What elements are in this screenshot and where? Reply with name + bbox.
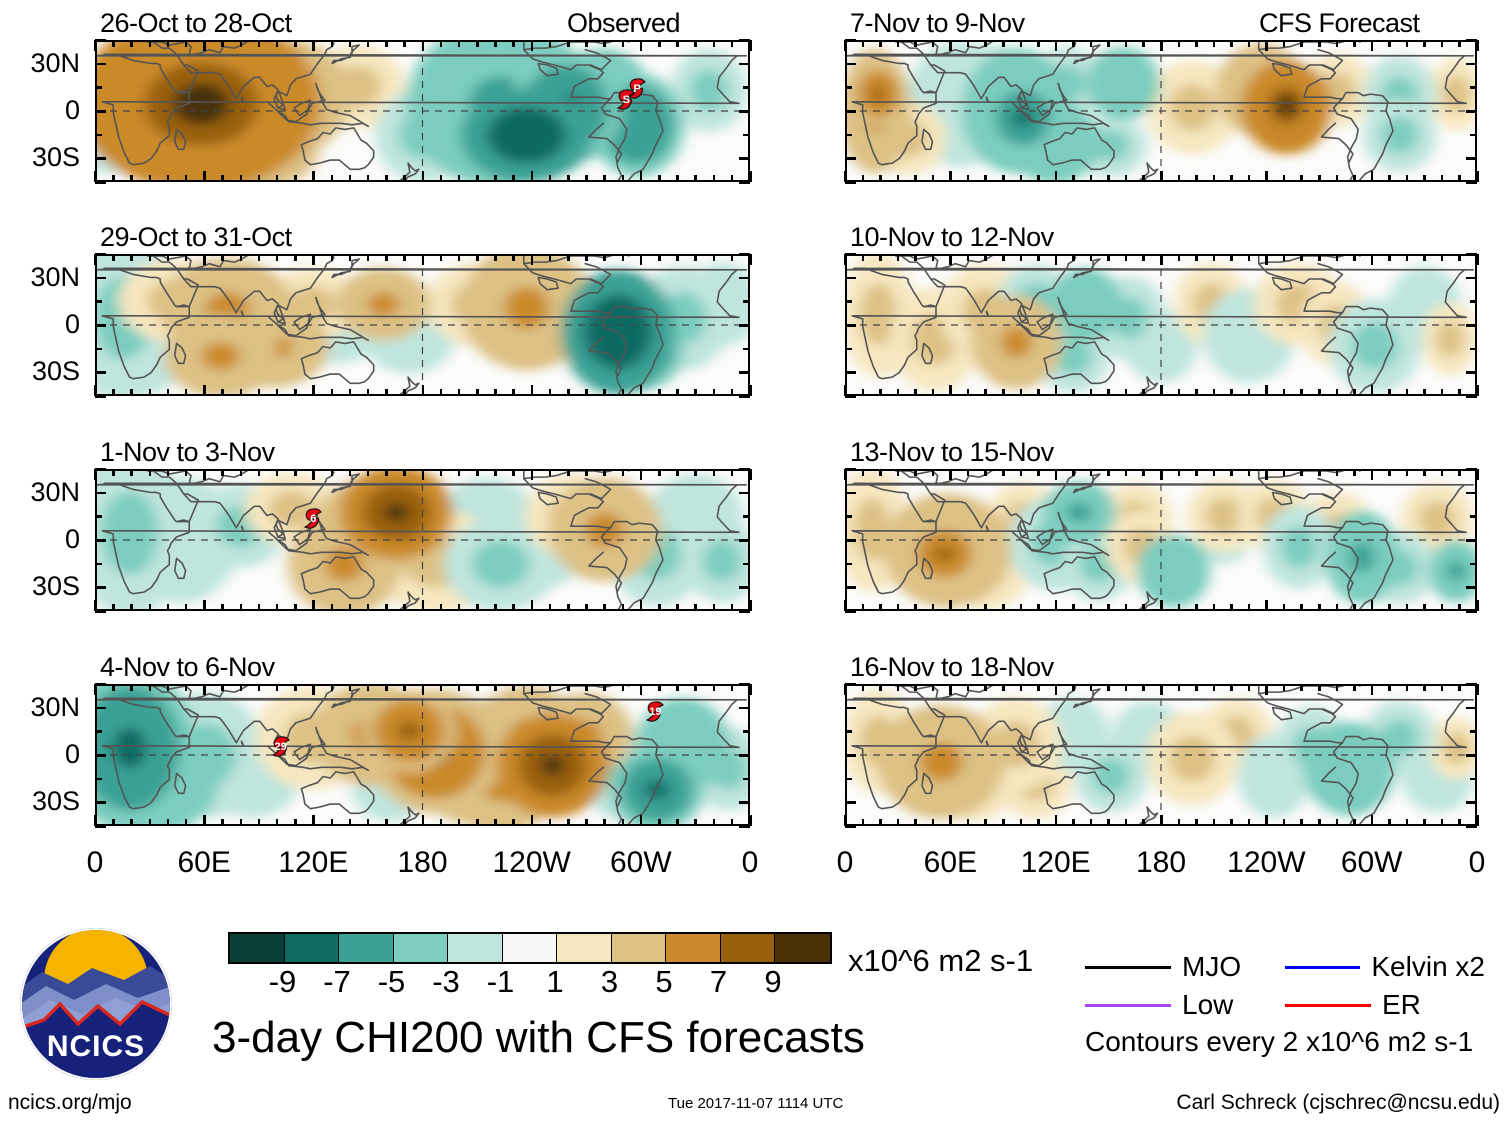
x-axis-tick <box>1090 40 1093 47</box>
x-axis-tick <box>862 604 865 611</box>
x-axis-tick <box>949 469 952 480</box>
x-axis-tick <box>512 684 515 691</box>
x-axis-tick <box>897 604 900 611</box>
x-axis-tick <box>1090 469 1093 476</box>
x-axis-tick <box>258 254 261 261</box>
x-axis-tick <box>203 40 206 51</box>
y-axis-tick <box>845 730 852 733</box>
colorbar-swatches <box>228 932 832 964</box>
x-axis-tick <box>879 604 882 611</box>
x-axis-tick <box>731 684 734 691</box>
x-axis-tick <box>1441 175 1444 182</box>
x-axis-tick <box>258 40 261 47</box>
y-axis-tick <box>1466 110 1477 113</box>
y-axis-tick <box>739 586 750 589</box>
panel-title-obs-1: 26-Oct to 28-Oct <box>100 10 292 37</box>
x-axis-tick <box>1371 600 1374 611</box>
x-axis-tick <box>1283 684 1286 691</box>
y-axis-tick <box>1466 277 1477 280</box>
x-axis-tick <box>967 254 970 261</box>
x-axis-tick <box>276 254 279 261</box>
x-axis-tick <box>914 175 917 182</box>
x-axis-tick <box>603 469 606 476</box>
legend-item-er: ER <box>1285 991 1485 1019</box>
y-axis-tick <box>1466 253 1477 256</box>
x-axis-tick <box>1142 469 1145 476</box>
x-axis-tick <box>349 469 352 476</box>
x-axis-tick <box>694 604 697 611</box>
x-axis-tick <box>476 604 479 611</box>
panel-title-fcs-3: 13-Nov to 15-Nov <box>850 439 1054 466</box>
x-axis-tick <box>713 175 716 182</box>
x-axis-tick <box>312 171 315 182</box>
x-axis-tick <box>585 604 588 611</box>
y-axis-tick <box>1470 563 1477 566</box>
x-axis-tick <box>349 604 352 611</box>
x-axis-tick <box>185 175 188 182</box>
x-axis-tick <box>694 175 697 182</box>
x-axis-tick <box>331 469 334 476</box>
x-axis-tick <box>1265 254 1268 265</box>
y-axis-tick <box>743 86 750 89</box>
x-axis-tick <box>1265 815 1268 826</box>
x-axis-tick <box>1353 40 1356 47</box>
x-axis-tick <box>1125 254 1128 261</box>
x-axis-tick <box>1406 389 1409 396</box>
x-axis-tick <box>367 389 370 396</box>
x-axis-tick <box>1265 171 1268 182</box>
x-axis-tick <box>1388 40 1391 47</box>
x-axis-tick <box>713 389 716 396</box>
x-axis-tick <box>967 819 970 826</box>
x-axis-tick <box>1353 684 1356 691</box>
x-axis-tick <box>494 175 497 182</box>
x-axis-tick <box>385 175 388 182</box>
y-axis-tick <box>95 825 106 828</box>
y-axis-tick-label: 30N <box>0 50 80 77</box>
x-axis-tick <box>312 815 315 826</box>
x-axis-tick <box>1423 684 1426 691</box>
y-axis-tick <box>845 683 856 686</box>
x-axis-tick <box>879 389 882 396</box>
x-axis-tick <box>440 40 443 47</box>
x-axis-tick <box>676 819 679 826</box>
x-axis-tick <box>1423 819 1426 826</box>
x-axis-tick <box>932 684 935 691</box>
x-axis-tick <box>694 389 697 396</box>
colorbar-cell-8 <box>666 934 721 962</box>
x-axis-tick <box>512 469 515 476</box>
y-axis-tick <box>845 110 856 113</box>
y-axis-tick <box>1466 371 1477 374</box>
x-axis-tick <box>1458 40 1461 47</box>
y-axis-tick <box>739 63 750 66</box>
x-axis-tick <box>1248 175 1251 182</box>
map-field-fcs-2 <box>847 256 1475 394</box>
x-axis-tick <box>149 254 152 261</box>
x-axis-tick <box>1318 469 1321 476</box>
x-axis-tick <box>1423 604 1426 611</box>
x-axis-tick <box>312 385 315 396</box>
x-axis-tick <box>276 604 279 611</box>
x-axis-tick-label: 0 <box>87 848 104 878</box>
x-axis-tick <box>1213 819 1216 826</box>
x-axis-tick-label: 120E <box>278 848 348 878</box>
y-axis-tick <box>95 253 106 256</box>
y-axis-tick <box>845 825 856 828</box>
x-axis-tick <box>512 175 515 182</box>
x-axis-tick <box>258 604 261 611</box>
x-axis-tick <box>367 684 370 691</box>
y-axis-tick <box>95 395 106 398</box>
y-axis-tick <box>1466 468 1477 471</box>
y-axis-tick-label: 30S <box>0 573 80 600</box>
colorbar-cell-2 <box>339 934 394 962</box>
x-axis-tick <box>549 684 552 691</box>
x-axis-tick <box>603 175 606 182</box>
map-field-fcs-4 <box>847 686 1475 824</box>
x-axis-tick <box>1423 469 1426 476</box>
x-axis-tick <box>130 254 133 261</box>
x-axis-tick-label: 0 <box>742 848 759 878</box>
x-axis-tick <box>1371 171 1374 182</box>
legend-row-1: MJO Kelvin x2 <box>1085 948 1505 986</box>
x-axis-tick <box>422 254 425 265</box>
x-axis-tick <box>276 819 279 826</box>
legend-item-mjo: MJO <box>1085 953 1285 981</box>
y-axis-tick <box>95 515 102 518</box>
x-axis-tick <box>294 604 297 611</box>
x-axis-tick <box>422 684 425 695</box>
x-axis-tick <box>1423 40 1426 47</box>
x-axis-tick <box>1441 389 1444 396</box>
x-axis-tick <box>1318 40 1321 47</box>
x-axis-tick <box>984 40 987 47</box>
x-axis-tick <box>932 175 935 182</box>
x-axis-tick <box>862 819 865 826</box>
x-axis-tick <box>1353 604 1356 611</box>
x-axis-tick <box>1160 469 1163 480</box>
y-axis-tick <box>743 778 750 781</box>
x-axis-tick <box>403 389 406 396</box>
x-axis-tick <box>1107 40 1110 47</box>
x-axis-tick <box>1336 254 1339 261</box>
x-axis-tick <box>1458 389 1461 396</box>
x-axis-tick <box>167 819 170 826</box>
x-axis-tick <box>1248 389 1251 396</box>
y-axis-tick <box>95 110 106 113</box>
x-axis-tick <box>1020 389 1023 396</box>
x-axis-tick <box>331 389 334 396</box>
x-axis-tick <box>94 469 97 480</box>
x-axis-tick <box>603 684 606 691</box>
x-axis-tick <box>149 175 152 182</box>
x-axis-tick <box>676 684 679 691</box>
x-axis-tick <box>1336 389 1339 396</box>
x-axis-tick <box>585 469 588 476</box>
panel-grid: 26-Oct to 28-OctObservedPS30N030S29-Oct … <box>0 0 1510 900</box>
x-axis-tick <box>94 254 97 265</box>
colorbar-cell-10 <box>775 934 830 962</box>
x-axis-tick <box>258 389 261 396</box>
x-axis-tick <box>1283 469 1286 476</box>
colorbar-cell-3 <box>394 934 449 962</box>
x-axis-tick <box>984 254 987 261</box>
x-axis-tick <box>294 684 297 691</box>
x-axis-tick <box>731 175 734 182</box>
y-axis-tick <box>1470 300 1477 303</box>
x-axis-tick <box>1072 254 1075 261</box>
x-axis-tick <box>1037 469 1040 476</box>
x-axis-tick <box>458 469 461 476</box>
y-axis-tick <box>845 610 856 613</box>
x-axis-tick <box>1336 684 1339 691</box>
x-axis-tick <box>221 40 224 47</box>
colorbar-cell-9 <box>721 934 776 962</box>
x-axis-tick <box>221 175 224 182</box>
x-axis-tick <box>367 469 370 476</box>
x-axis-tick <box>1458 604 1461 611</box>
x-axis-tick <box>403 684 406 691</box>
x-axis-tick <box>1178 469 1181 476</box>
map-field-obs-3 <box>97 471 748 609</box>
x-axis-tick <box>932 469 935 476</box>
x-axis-tick <box>440 684 443 691</box>
x-axis-tick <box>1178 175 1181 182</box>
x-axis-tick <box>967 175 970 182</box>
y-axis-tick <box>739 277 750 280</box>
x-axis-tick <box>862 40 865 47</box>
y-axis-tick <box>95 63 106 66</box>
x-axis-tick <box>932 389 935 396</box>
y-axis-tick <box>95 181 106 184</box>
x-axis-tick <box>1107 684 1110 691</box>
x-axis-tick <box>349 819 352 826</box>
y-axis-tick <box>1466 707 1477 710</box>
x-axis-tick <box>1125 40 1128 47</box>
x-axis-tick <box>1142 684 1145 691</box>
footer-url[interactable]: ncics.org/mjo <box>8 1092 132 1113</box>
x-axis-tick <box>1458 469 1461 476</box>
x-axis-tick <box>385 254 388 261</box>
x-axis-tick <box>914 684 917 691</box>
x-axis-tick <box>1195 469 1198 476</box>
y-axis-tick <box>1470 730 1477 733</box>
x-axis-tick <box>1178 389 1181 396</box>
x-axis-tick <box>331 819 334 826</box>
x-axis-tick <box>1388 389 1391 396</box>
x-axis-tick <box>1318 254 1321 261</box>
x-axis-tick <box>1300 40 1303 47</box>
x-axis-tick <box>658 175 661 182</box>
map-frame-fcs-4 <box>845 684 1477 826</box>
x-axis-tick-label: 0 <box>1469 848 1486 878</box>
colorbar-cell-4 <box>448 934 503 962</box>
x-axis-tick <box>349 175 352 182</box>
x-axis-tick <box>640 254 643 265</box>
panel-title-fcs-2: 10-Nov to 12-Nov <box>850 224 1054 251</box>
y-axis-tick <box>95 492 106 495</box>
x-axis-tick <box>1072 469 1075 476</box>
legend-label-low: Low <box>1182 991 1233 1019</box>
x-axis-tick <box>130 604 133 611</box>
x-axis-tick <box>385 684 388 691</box>
x-axis-tick <box>967 389 970 396</box>
x-axis-tick <box>1265 684 1268 695</box>
x-axis-tick <box>476 40 479 47</box>
x-axis-tick <box>440 389 443 396</box>
y-axis-tick-label: 0 <box>0 97 80 124</box>
x-axis-tick <box>879 40 882 47</box>
x-axis-tick <box>440 819 443 826</box>
x-axis-tick <box>1476 40 1479 51</box>
x-axis-tick <box>422 469 425 480</box>
x-axis-tick <box>531 469 534 480</box>
x-axis-tick <box>676 469 679 476</box>
x-axis-tick <box>1300 469 1303 476</box>
y-axis-tick <box>739 395 750 398</box>
y-axis-tick <box>95 683 106 686</box>
x-axis-tick <box>1160 171 1163 182</box>
x-axis-tick <box>112 389 115 396</box>
legend-line-icon <box>1285 966 1360 969</box>
x-axis-tick <box>112 254 115 261</box>
x-axis-tick <box>349 389 352 396</box>
x-axis-tick <box>1318 389 1321 396</box>
x-axis-tick <box>1336 469 1339 476</box>
x-axis-tick <box>658 40 661 47</box>
x-axis-tick <box>1072 40 1075 47</box>
y-axis-tick <box>1466 39 1477 42</box>
legend-label-kelvin: Kelvin x2 <box>1371 953 1485 981</box>
x-axis-tick <box>1055 171 1058 182</box>
x-axis-tick <box>984 604 987 611</box>
x-axis-tick <box>1107 469 1110 476</box>
y-axis-tick <box>95 324 106 327</box>
x-axis-tick <box>130 819 133 826</box>
x-axis-tick <box>713 254 716 261</box>
x-axis-tick <box>312 600 315 611</box>
x-axis-tick <box>1406 40 1409 47</box>
x-axis-tick <box>1195 175 1198 182</box>
x-axis-tick <box>1336 40 1339 47</box>
map-frame-fcs-3 <box>845 469 1477 611</box>
map-frame-obs-1 <box>95 40 750 182</box>
x-axis-tick <box>694 819 697 826</box>
x-axis-tick <box>367 40 370 47</box>
x-axis-tick <box>1195 684 1198 691</box>
y-axis-tick-label: 0 <box>0 311 80 338</box>
x-axis-tick <box>1248 604 1251 611</box>
x-axis-tick <box>1230 175 1233 182</box>
x-axis-tick <box>603 389 606 396</box>
map-field-fcs-3 <box>847 471 1475 609</box>
y-axis-tick-label: 0 <box>0 741 80 768</box>
x-axis-tick <box>1160 254 1163 265</box>
x-axis-tick <box>167 604 170 611</box>
x-axis-tick <box>185 819 188 826</box>
x-axis-tick <box>1055 815 1058 826</box>
x-axis-tick <box>494 254 497 261</box>
panel-title-fcs-1: 7-Nov to 9-Nov <box>850 10 1025 37</box>
x-axis-tick <box>494 469 497 476</box>
x-axis-tick <box>1020 40 1023 47</box>
x-axis-tick <box>240 254 243 261</box>
y-axis-tick <box>739 371 750 374</box>
x-axis-tick <box>1230 254 1233 261</box>
x-axis-tick <box>531 600 534 611</box>
colorbar-tick-label: -5 <box>378 966 406 997</box>
x-axis-tick <box>1406 819 1409 826</box>
x-axis-tick <box>312 40 315 51</box>
x-axis-tick <box>476 684 479 691</box>
x-axis-tick <box>1371 254 1374 265</box>
y-axis-tick <box>1466 181 1477 184</box>
x-axis-tick <box>1055 469 1058 480</box>
x-axis-tick <box>531 815 534 826</box>
x-axis-tick <box>932 604 935 611</box>
x-axis-tick <box>984 469 987 476</box>
x-axis-tick <box>1072 175 1075 182</box>
x-axis-tick <box>1248 469 1251 476</box>
x-axis-tick <box>112 40 115 47</box>
y-axis-tick <box>1466 324 1477 327</box>
colorbar-tick-label: -7 <box>323 966 351 997</box>
x-axis-tick <box>585 175 588 182</box>
x-axis-tick <box>1353 819 1356 826</box>
x-axis-tick <box>112 819 115 826</box>
legend-line-icon <box>1085 966 1171 969</box>
y-axis-tick <box>845 86 852 89</box>
y-axis-tick <box>845 754 856 757</box>
x-axis-tick <box>403 254 406 261</box>
x-axis-tick <box>549 819 552 826</box>
x-axis-tick <box>403 469 406 476</box>
x-axis-tick <box>713 684 716 691</box>
x-axis-tick <box>203 385 206 396</box>
x-axis-tick <box>1371 385 1374 396</box>
footer-timestamp: Tue 2017-11-07 1114 UTC <box>668 1096 843 1111</box>
y-axis-tick <box>845 586 856 589</box>
x-axis-tick <box>349 254 352 261</box>
x-axis-tick <box>932 40 935 47</box>
y-axis-tick <box>845 395 856 398</box>
x-axis-tick <box>258 469 261 476</box>
x-axis-tick <box>1160 385 1163 396</box>
x-axis-tick <box>1371 815 1374 826</box>
x-axis-tick <box>149 684 152 691</box>
x-axis-tick <box>1353 469 1356 476</box>
x-axis-tick <box>1160 684 1163 695</box>
x-axis-tick <box>731 389 734 396</box>
y-axis-tick <box>743 515 750 518</box>
x-axis-tick <box>112 604 115 611</box>
x-axis-tick <box>1142 254 1145 261</box>
x-axis-tick <box>914 604 917 611</box>
x-axis-tick <box>1020 469 1023 476</box>
colorbar-cell-5 <box>503 934 558 962</box>
panel-title-obs-2: 29-Oct to 31-Oct <box>100 224 292 251</box>
y-axis-tick <box>1466 825 1477 828</box>
x-axis-tick <box>1441 254 1444 261</box>
y-axis-tick <box>1466 539 1477 542</box>
x-axis-tick <box>549 604 552 611</box>
x-axis-tick <box>622 175 625 182</box>
x-axis-tick <box>694 40 697 47</box>
x-axis-tick <box>1458 684 1461 691</box>
y-axis-tick <box>845 277 856 280</box>
x-axis-tick <box>640 815 643 826</box>
